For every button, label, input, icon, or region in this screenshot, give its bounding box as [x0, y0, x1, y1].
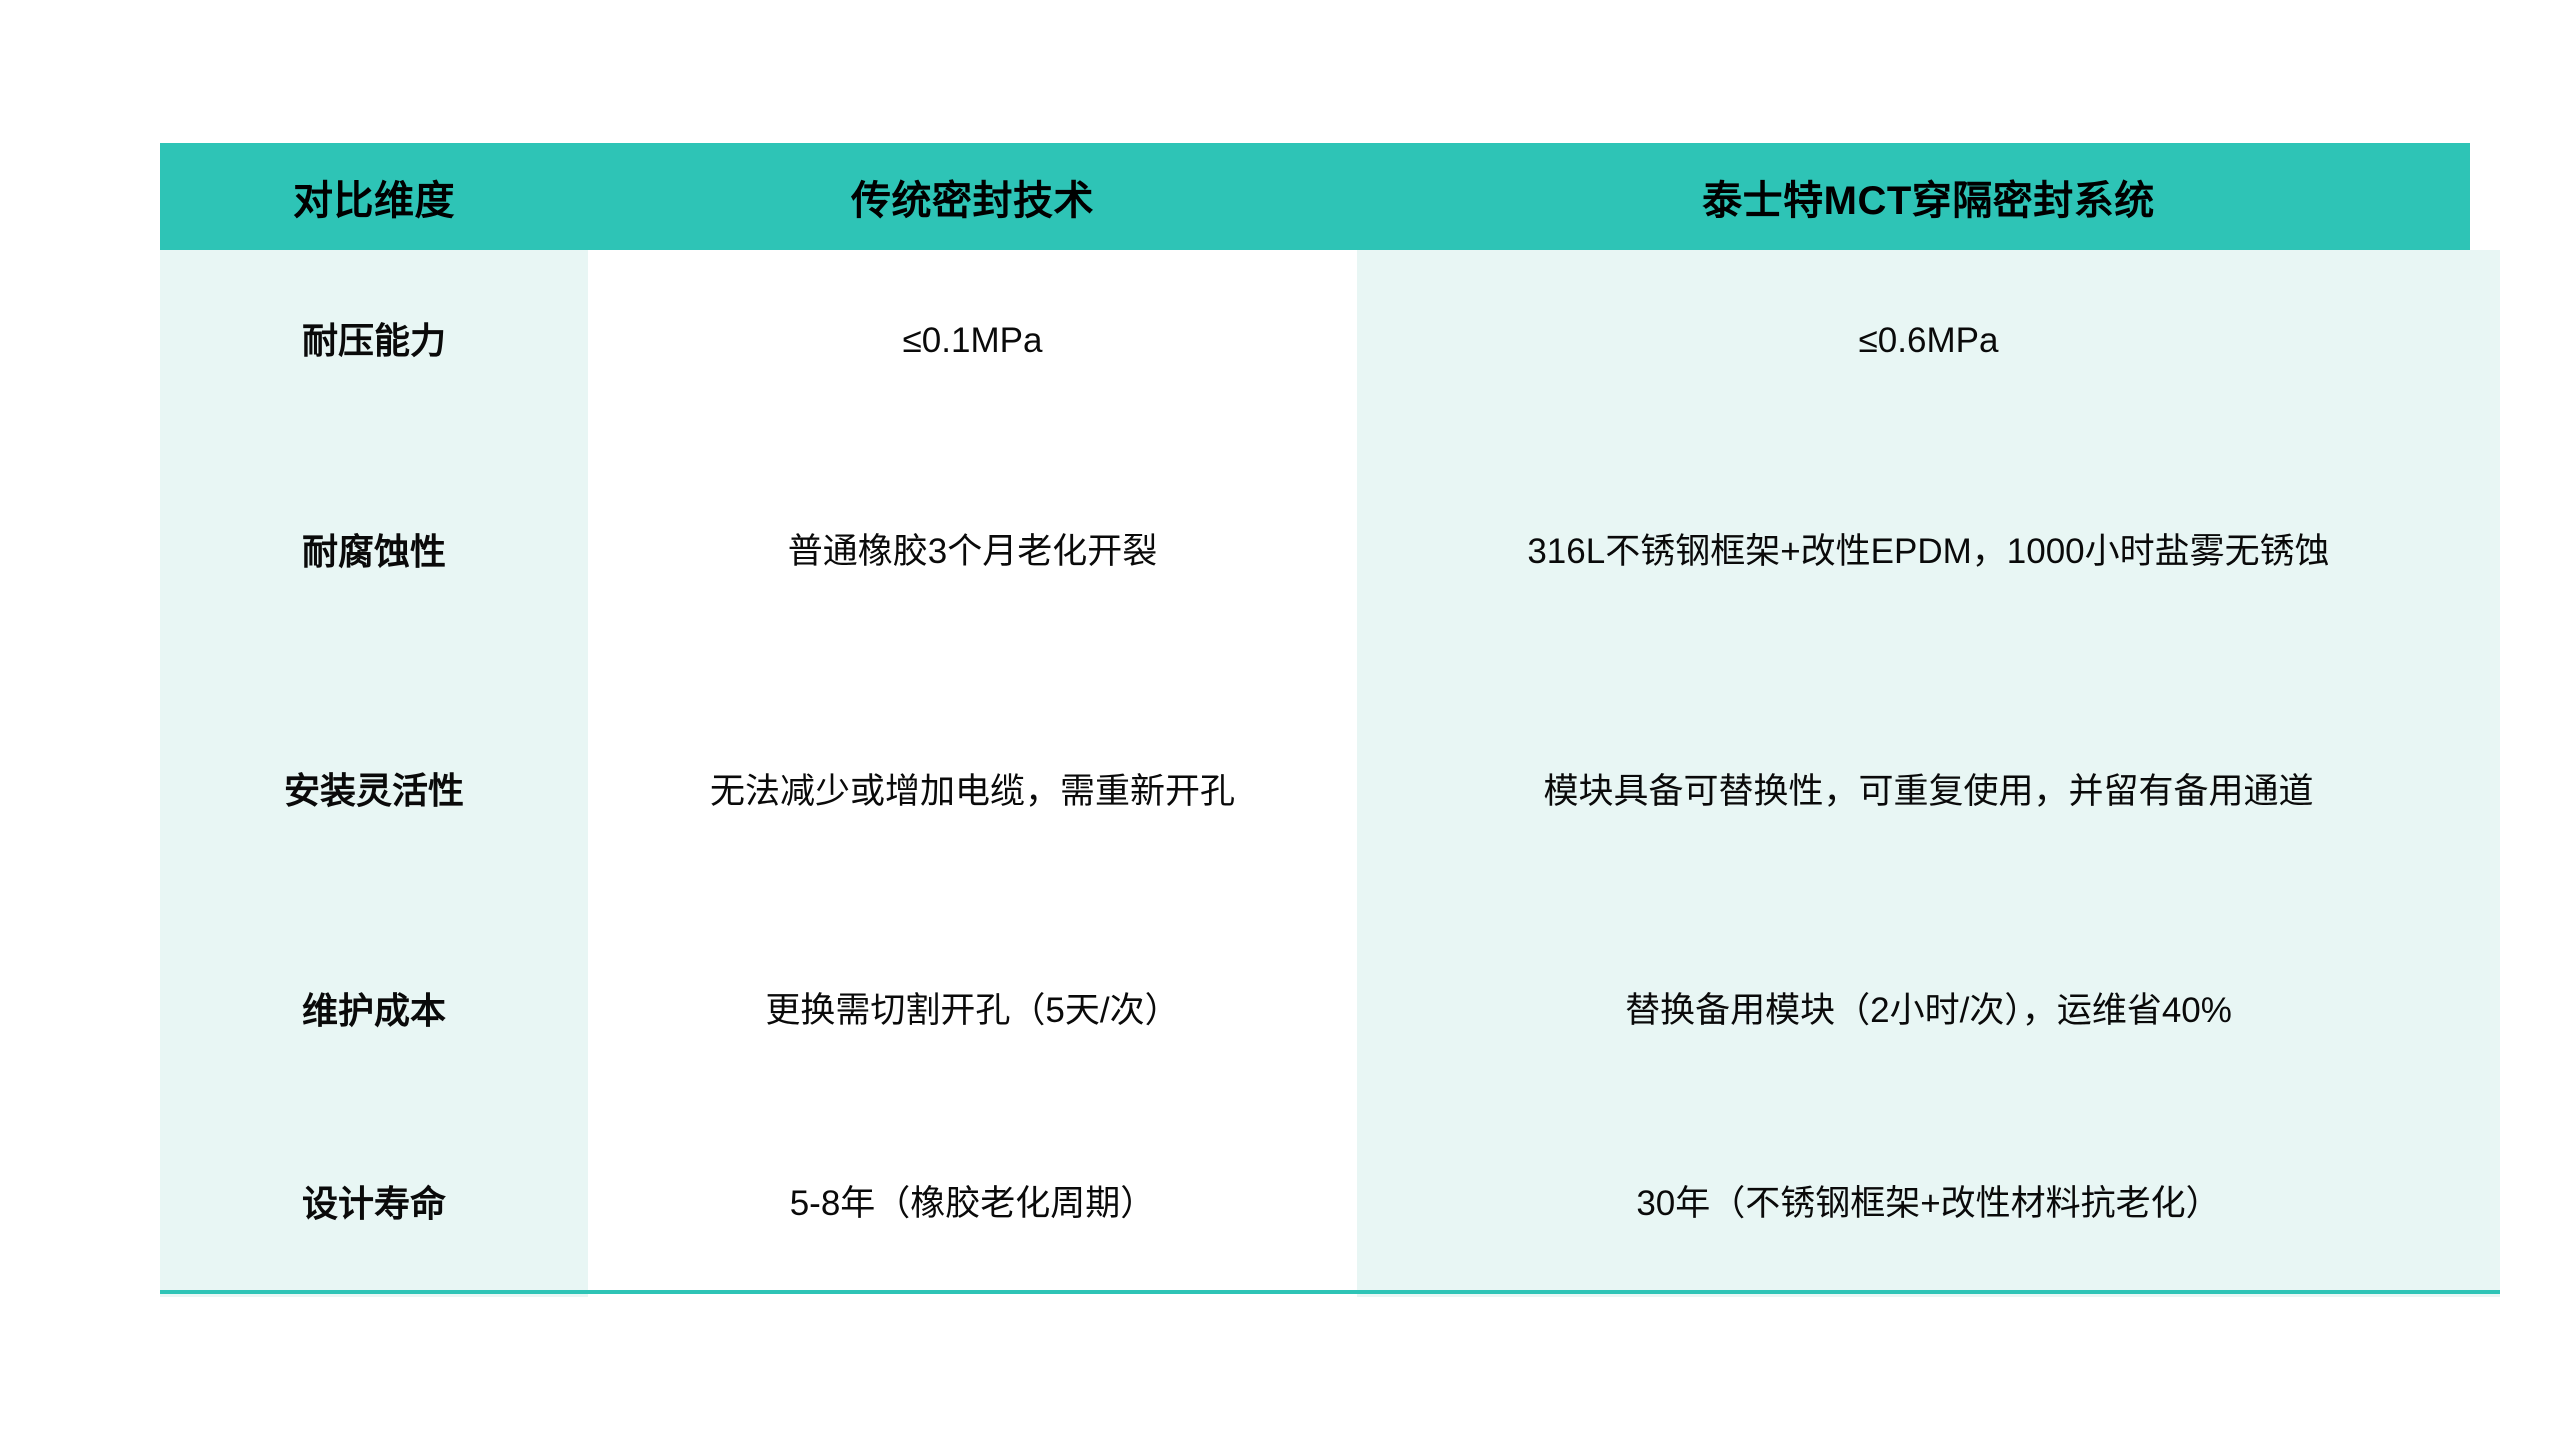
cell-mct: 30年（不锈钢框架+改性材料抗老化）	[1357, 1111, 2500, 1297]
cell-traditional: ≤0.1MPa	[588, 250, 1357, 432]
cell-traditional: 无法减少或增加电缆，需重新开孔	[588, 672, 1357, 911]
table-bottom-rule	[160, 1290, 2500, 1294]
page-root: 对比维度 传统密封技术 泰士特MCT穿隔密封系统 耐压能力 ≤0.1MPa ≤0…	[0, 0, 2560, 1440]
table-row: 安装灵活性 无法减少或增加电缆，需重新开孔 模块具备可替换性，可重复使用，并留有…	[160, 672, 2500, 911]
cell-mct: 替换备用模块（2小时/次），运维省40%	[1357, 911, 2500, 1111]
column-header-mct: 泰士特MCT穿隔密封系统	[1357, 143, 2500, 250]
table-row: 设计寿命 5-8年（橡胶老化周期） 30年（不锈钢框架+改性材料抗老化）	[160, 1111, 2500, 1297]
cell-mct: 模块具备可替换性，可重复使用，并留有备用通道	[1357, 672, 2500, 911]
cell-traditional: 5-8年（橡胶老化周期）	[588, 1111, 1357, 1297]
comparison-table-wrapper: 对比维度 传统密封技术 泰士特MCT穿隔密封系统 耐压能力 ≤0.1MPa ≤0…	[160, 143, 2500, 1297]
comparison-table: 对比维度 传统密封技术 泰士特MCT穿隔密封系统 耐压能力 ≤0.1MPa ≤0…	[160, 143, 2500, 1297]
table-row: 维护成本 更换需切割开孔（5天/次） 替换备用模块（2小时/次），运维省40%	[160, 911, 2500, 1111]
table-body: 耐压能力 ≤0.1MPa ≤0.6MPa 耐腐蚀性 普通橡胶3个月老化开裂 31…	[160, 250, 2500, 1297]
table-header: 对比维度 传统密封技术 泰士特MCT穿隔密封系统	[160, 143, 2500, 250]
cell-dimension: 安装灵活性	[160, 672, 588, 911]
cell-dimension: 维护成本	[160, 911, 588, 1111]
cell-mct: ≤0.6MPa	[1357, 250, 2500, 432]
column-header-dimension: 对比维度	[160, 143, 588, 250]
table-row: 耐腐蚀性 普通橡胶3个月老化开裂 316L不锈钢框架+改性EPDM，1000小时…	[160, 432, 2500, 672]
cell-dimension: 耐腐蚀性	[160, 432, 588, 672]
cell-traditional: 更换需切割开孔（5天/次）	[588, 911, 1357, 1111]
cell-dimension: 设计寿命	[160, 1111, 588, 1297]
cell-mct: 316L不锈钢框架+改性EPDM，1000小时盐雾无锈蚀	[1357, 432, 2500, 672]
table-header-row: 对比维度 传统密封技术 泰士特MCT穿隔密封系统	[160, 143, 2500, 250]
cell-traditional: 普通橡胶3个月老化开裂	[588, 432, 1357, 672]
column-header-traditional: 传统密封技术	[588, 143, 1357, 250]
table-row: 耐压能力 ≤0.1MPa ≤0.6MPa	[160, 250, 2500, 432]
cell-dimension: 耐压能力	[160, 250, 588, 432]
